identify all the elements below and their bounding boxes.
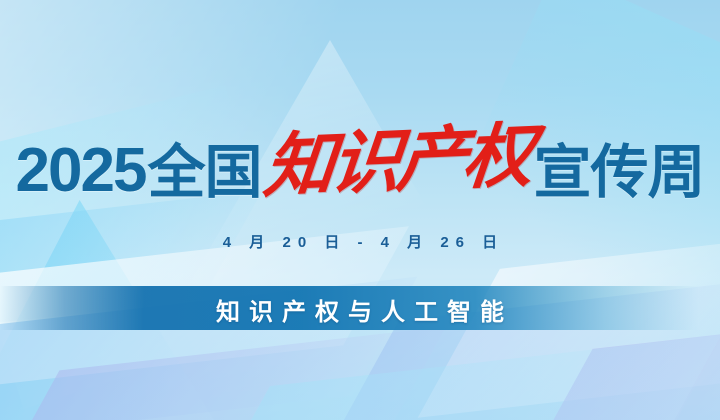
title-highlight: 知识产权 xyxy=(261,120,533,201)
poster-subtitle: 知识产权与人工智能 xyxy=(0,292,720,327)
poster-date-range: 4 月 20 日 - 4 月 26 日 xyxy=(0,231,720,252)
poster-title: 2025 全国 知识产权 宣传周 xyxy=(0,116,720,202)
title-suffix: 宣传周 xyxy=(533,144,704,202)
title-year: 2025 xyxy=(16,140,146,202)
title-scope: 全国 xyxy=(147,144,261,202)
ip-week-poster: 2025 全国 知识产权 宣传周 4 月 20 日 - 4 月 26 日 知识产… xyxy=(0,0,720,420)
